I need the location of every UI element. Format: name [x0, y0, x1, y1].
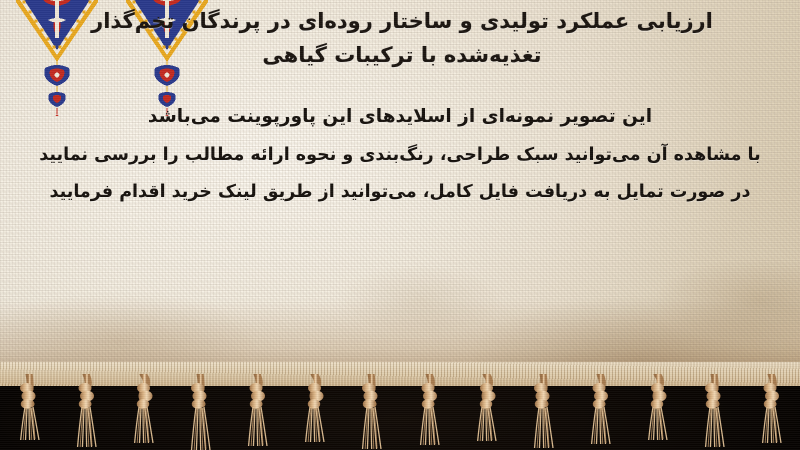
- body-line-1: این تصویر نمونه‌ای از اسلایدهای این پاور…: [10, 108, 790, 127]
- fringe-tassel: [240, 374, 274, 450]
- fringe-tassel: [412, 374, 446, 449]
- slide-body-text: این تصویر نمونه‌ای از اسلایدهای این پاور…: [10, 108, 790, 202]
- slide-title-line-2: تغذیه‌شده با ترکیبات گیاهی: [22, 38, 782, 72]
- fringe-tassel: [469, 374, 503, 445]
- fringe-tassel: [697, 374, 731, 450]
- slide-canvas: ارزیابی عملکرد تولیدی و ساختار روده‌ای د…: [0, 0, 800, 450]
- fringe-tassel: [297, 374, 331, 446]
- fringe-tassel: [69, 374, 103, 450]
- fringe-tassel: [354, 374, 388, 450]
- fringe-tassel: [183, 374, 217, 450]
- carpet-fringe-tassels: [0, 362, 800, 450]
- fringe-tassel: [126, 374, 160, 447]
- slide-title: ارزیابی عملکرد تولیدی و ساختار روده‌ای د…: [22, 4, 782, 72]
- fringe-tassel: [12, 374, 46, 444]
- fringe-tassel: [640, 374, 674, 444]
- fringe-tassel: [526, 374, 560, 450]
- canvas-selvedge-edge: [0, 362, 800, 386]
- body-line-2: با مشاهده آن می‌توانید سبک طراحی، رنگ‌بن…: [10, 147, 790, 165]
- fringe-tassel: [583, 374, 617, 448]
- slide-title-line-1: ارزیابی عملکرد تولیدی و ساختار روده‌ای د…: [22, 4, 782, 38]
- body-line-3: در صورت تمایل به دریافت فایل کامل، می‌تو…: [10, 184, 790, 202]
- fringe-tassel: [754, 374, 788, 447]
